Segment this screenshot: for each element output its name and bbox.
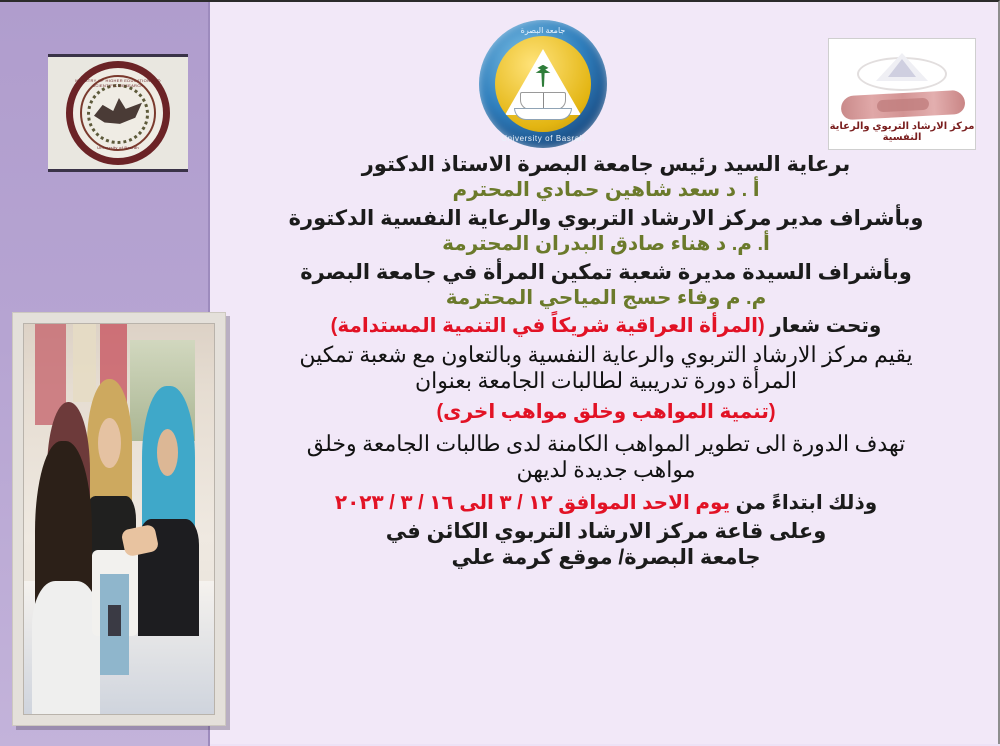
workshop-photo (23, 323, 215, 715)
poster-text-block: برعاية السيد رئيس جامعة البصرة الاستاذ ا… (212, 152, 1000, 570)
line-center-director-name: أ. م. د هناء صادق البدران المحترمة (212, 232, 1000, 256)
line-objective-1: تهدف الدورة الى تطوير المواهب الكامنة لد… (212, 431, 1000, 457)
university-logo: جامعة البصرة University of Basrah (479, 20, 607, 148)
university-logo-english: University of Basrah (479, 134, 607, 143)
line-course-title: (تنمية المواهب وخلق مواهب اخرى) (212, 400, 1000, 424)
university-logo-arabic: جامعة البصرة (479, 26, 607, 35)
handshake-icon (840, 90, 965, 120)
triangle-inner-icon (888, 59, 916, 77)
boat-icon (514, 108, 572, 120)
line-women-unit-director-name: م. م وفاء حسج المياحي المحترمة (212, 286, 1000, 310)
line-objective-2: مواهب جديدة لديهن (212, 457, 1000, 483)
book-icon (520, 92, 566, 110)
ministry-logo: MINISTRY OF HIGHER EDUCATION AND SCIENTI… (48, 54, 188, 172)
ministry-bottom-text: University of Basrah (73, 145, 163, 150)
guidance-center-caption: مركز الارشاد التربوي والرعاية النفسية (829, 121, 975, 143)
line-venue-2: جامعة البصرة/ موقع كرمة علي (212, 545, 1000, 571)
event-poster: MINISTRY OF HIGHER EDUCATION AND SCIENTI… (0, 0, 1000, 744)
line-organizer-2: المرأة دورة تدريبية لطالبات الجامعة بعنو… (212, 368, 1000, 394)
dates-text: يوم الاحد الموافق ١٢ / ٣ الى ١٦ / ٣ / ٢٠… (335, 492, 730, 514)
line-president-name: أ . د سعد شاهين حمادي المحترم (212, 178, 1000, 202)
line-organizer-1: يقيم مركز الارشاد التربوي والرعاية النفس… (212, 342, 1000, 368)
university-logo-inner (495, 36, 591, 132)
line-slogan: وتحت شعار (المرأة العراقية شريكاً في الت… (212, 314, 1000, 338)
dates-prefix: وذلك ابتداءً من (730, 492, 877, 514)
ministry-seal-icon: MINISTRY OF HIGHER EDUCATION AND SCIENTI… (66, 61, 170, 165)
workshop-photo-frame (12, 312, 226, 726)
guidance-center-logo: مركز الارشاد التربوي والرعاية النفسية (828, 38, 976, 150)
line-supervision-center: وبأشراف مدير مركز الارشاد التربوي والرعا… (212, 206, 1000, 232)
line-venue-1: وعلى قاعة مركز الارشاد التربوي الكائن في (212, 519, 1000, 545)
ministry-top-text: MINISTRY OF HIGHER EDUCATION AND SCIENTI… (73, 78, 163, 88)
line-dates: وذلك ابتداءً من يوم الاحد الموافق ١٢ / ٣… (212, 491, 1000, 515)
line-patronage: برعاية السيد رئيس جامعة البصرة الاستاذ ا… (212, 152, 1000, 178)
slogan-prefix: وتحت شعار (765, 315, 882, 337)
slogan-text: (المرأة العراقية شريكاً في التنمية المست… (331, 315, 765, 337)
line-supervision-women-unit: وبأشراف السيدة مديرة شعبة تمكين المرأة ف… (212, 260, 1000, 286)
